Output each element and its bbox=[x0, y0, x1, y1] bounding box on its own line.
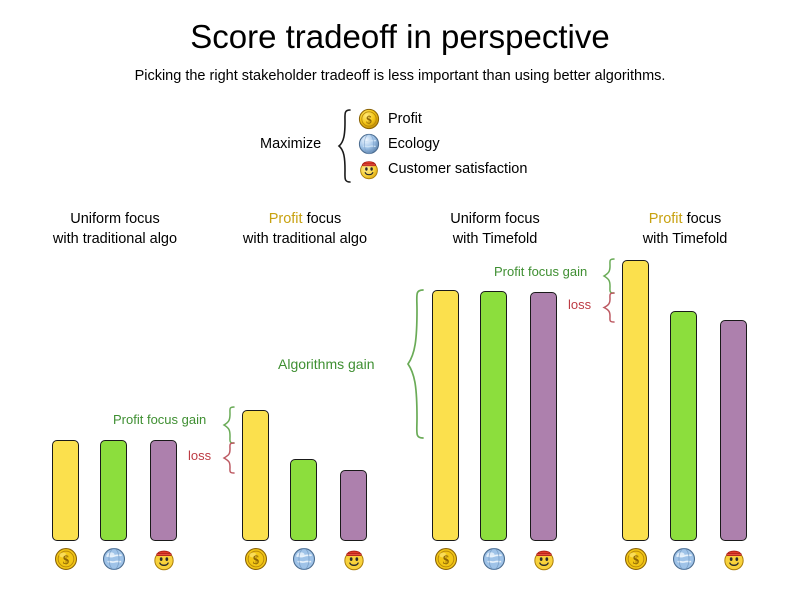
legend-brace-icon bbox=[336, 108, 352, 184]
legend-items: $ Profit bbox=[358, 106, 527, 181]
bar-ecology-group3 bbox=[480, 291, 507, 541]
bar-customer-group4 bbox=[720, 320, 747, 541]
bar-ecology-group4 bbox=[670, 311, 697, 541]
legend-item-profit: $ Profit bbox=[358, 106, 527, 131]
group-header-label: Uniform focus bbox=[70, 211, 159, 227]
bar-customer-group3 bbox=[530, 292, 557, 541]
svg-text:$: $ bbox=[442, 553, 448, 567]
bar-profit-group2 bbox=[242, 410, 269, 541]
brace-loss-left-icon bbox=[222, 442, 236, 474]
annotation-loss-right: loss bbox=[568, 297, 591, 312]
group-header-sublabel: with Timefold bbox=[590, 229, 780, 249]
group-header-label: focus bbox=[307, 211, 342, 227]
group-header-highlight: Profit bbox=[269, 211, 303, 227]
globe-icon bbox=[482, 547, 508, 571]
legend-label: Maximize bbox=[260, 136, 321, 152]
globe-icon bbox=[358, 133, 384, 155]
svg-text:$: $ bbox=[632, 553, 638, 567]
group-header-sublabel: with traditional algo bbox=[20, 229, 210, 249]
legend-item-label: Customer satisfaction bbox=[388, 161, 527, 177]
group-header-label: focus bbox=[687, 211, 722, 227]
legend-item-ecology: Ecology bbox=[358, 131, 527, 156]
page-subtitle: Picking the right stakeholder tradeoff i… bbox=[0, 68, 800, 84]
bar-profit-group1 bbox=[52, 440, 79, 541]
money-coin-icon: $ bbox=[434, 547, 460, 571]
group-header-sublabel: with traditional algo bbox=[210, 229, 400, 249]
svg-text:$: $ bbox=[252, 553, 258, 567]
smiley-hardhat-icon bbox=[358, 158, 384, 180]
group-header-1: Uniform focus with traditional algo bbox=[20, 209, 210, 249]
group-header-3: Uniform focus with Timefold bbox=[400, 209, 590, 249]
annotation-algorithms-gain: Algorithms gain bbox=[278, 356, 375, 372]
smiley-hardhat-icon bbox=[342, 547, 368, 571]
smiley-hardhat-icon bbox=[532, 547, 558, 571]
annotation-profit-focus-gain-right: Profit focus gain bbox=[494, 264, 587, 279]
brace-profit-focus-gain-left-icon bbox=[222, 406, 236, 444]
svg-text:$: $ bbox=[62, 553, 68, 567]
annotation-loss-left: loss bbox=[188, 448, 211, 463]
money-coin-icon: $ bbox=[244, 547, 270, 571]
globe-icon bbox=[102, 547, 128, 571]
money-coin-icon: $ bbox=[624, 547, 650, 571]
brace-loss-right-icon bbox=[602, 292, 616, 323]
money-coin-icon: $ bbox=[54, 547, 80, 571]
chart-canvas: Score tradeoff in perspective Picking th… bbox=[0, 0, 800, 600]
group-header-highlight: Profit bbox=[649, 211, 683, 227]
bar-customer-group1 bbox=[150, 440, 177, 541]
smiley-hardhat-icon bbox=[722, 547, 748, 571]
page-title: Score tradeoff in perspective bbox=[0, 18, 800, 56]
bar-profit-group4 bbox=[622, 260, 649, 541]
bar-ecology-group1 bbox=[100, 440, 127, 541]
legend: Maximize bbox=[260, 106, 560, 186]
brace-profit-focus-gain-right-icon bbox=[602, 258, 616, 294]
annotation-profit-focus-gain-left: Profit focus gain bbox=[113, 412, 206, 427]
group-header-4: Profit focus with Timefold bbox=[590, 209, 780, 249]
group-header-sublabel: with Timefold bbox=[400, 229, 590, 249]
bar-customer-group2 bbox=[340, 470, 367, 541]
bar-profit-group3 bbox=[432, 290, 459, 541]
legend-item-customer-satisfaction: Customer satisfaction bbox=[358, 156, 527, 181]
group-header-label: Uniform focus bbox=[450, 211, 539, 227]
svg-text:$: $ bbox=[366, 113, 372, 126]
legend-item-label: Ecology bbox=[388, 136, 440, 152]
money-coin-icon: $ bbox=[358, 108, 384, 130]
globe-icon bbox=[672, 547, 698, 571]
smiley-hardhat-icon bbox=[152, 547, 178, 571]
globe-icon bbox=[292, 547, 318, 571]
legend-item-label: Profit bbox=[388, 111, 422, 127]
group-header-2: Profit focus with traditional algo bbox=[210, 209, 400, 249]
bar-ecology-group2 bbox=[290, 459, 317, 541]
brace-algorithms-gain-icon bbox=[406, 288, 426, 440]
